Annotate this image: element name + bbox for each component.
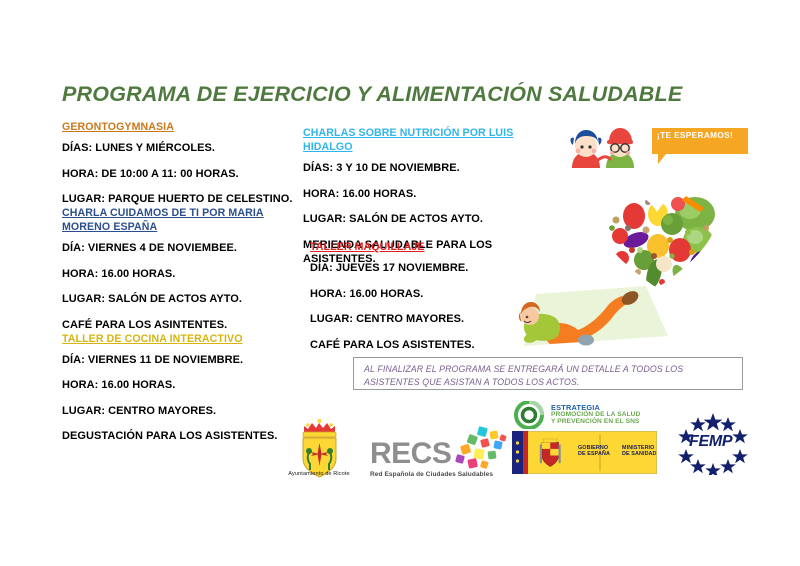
- detail-line: HORA: 16.00 HORAS.: [62, 378, 300, 392]
- stretching-person-icon: [518, 284, 698, 350]
- section-heading-charla-cuidamos: CHARLA CUIDAMOS DE TI POR MARIA MORENO E…: [62, 206, 300, 234]
- femp-wordmark: FEMP: [689, 433, 732, 451]
- estrategia-swirl-icon: [513, 401, 547, 429]
- detail-line: CAFÉ PARA LOS ASINTENTES.: [62, 318, 300, 332]
- left-column: GERONTOGYMNASIA DÍAS: LUNES Y MIÉRCOLES.…: [62, 120, 300, 443]
- ricote-logo-caption: Ayuntamiento de Ricote: [276, 471, 362, 477]
- detail-line: DÍAS: 3 Y 10 DE NOVIEMBRE.: [303, 161, 553, 175]
- detail-line: HORA: 16.00 HORAS.: [303, 187, 553, 201]
- detail-line: LUGAR: PARQUE HUERTO DE CELESTINO.: [62, 192, 300, 206]
- poster-page: PROGRAMA DE EJERCICIO Y ALIMENTACIÓN SAL…: [0, 0, 800, 566]
- closing-note-text: AL FINALIZAR EL PROGRAMA SE ENTREGARÁ UN…: [364, 363, 734, 388]
- speech-bubble-text: ¡TE ESPERAMOS!: [657, 131, 733, 140]
- section-gerontogymnasia: GERONTOGYMNASIA DÍAS: LUNES Y MIÉRCOLES.…: [62, 120, 300, 206]
- detail-line: LUGAR: CENTRO MAYORES.: [62, 404, 300, 418]
- section-heading-taller-cocina: TALLER DE COCINA INTERACTIVO: [62, 332, 300, 346]
- recs-dots-icon: [448, 425, 510, 473]
- estrategia-line3: Y PREVENCIÓN EN EL SNS: [551, 418, 639, 425]
- recs-logo-caption: Red Española de Ciudades Saludables: [370, 471, 493, 478]
- ministerio-de-sanidad-label: MINISTERIODE SANIDAD: [622, 445, 657, 458]
- section-heading-taller-maquillaje: TALLER MAQUILLAJE: [310, 240, 560, 254]
- detail-line: LUGAR: SALÓN DE ACTOS AYTO.: [303, 212, 553, 226]
- section-heading-gerontogymnasia: GERONTOGYMNASIA: [62, 120, 300, 134]
- estrategia-line2: PROMOCIÓN DE LA SALUD: [551, 411, 640, 418]
- detail-line: DÍA: JUEVES 17 NOVIEMBRE.: [310, 261, 560, 275]
- detail-line: HORA: DE 10:00 A 11: 00 HORAS.: [62, 167, 300, 181]
- detail-line: DEGUSTACIÓN PARA LOS ASISTENTES.: [62, 429, 300, 443]
- page-title: PROGRAMA DE EJERCICIO Y ALIMENTACIÓN SAL…: [62, 82, 682, 107]
- gobierno-de-espana-label: GOBIERNODE ESPAÑA: [578, 445, 610, 458]
- section-taller-cocina: TALLER DE COCINA INTERACTIVO DÍA: VIERNE…: [62, 332, 300, 444]
- vegetable-heart-icon: [592, 188, 722, 292]
- detail-line: DÍAS: LUNES Y MIÉRCOLES.: [62, 141, 300, 155]
- recs-logo-wordmark: RECS: [370, 437, 451, 471]
- section-heading-charlas-nutricion: CHARLAS SOBRE NUTRICIÓN POR LUIS HIDALGO: [303, 126, 553, 154]
- detail-line: HORA: 16.00 HORAS.: [62, 267, 300, 281]
- detail-line: DÍA: VIERNES 4 DE NOVIEMBEE.: [62, 241, 300, 255]
- closing-note-line2: QUE ASISTAN A TODOS LOS ACTOS.: [422, 377, 579, 387]
- section-charla-cuidamos: CHARLA CUIDAMOS DE TI POR MARIA MORENO E…: [62, 206, 300, 332]
- closing-note-box: AL FINALIZAR EL PROGRAMA SE ENTREGARÁ UN…: [353, 357, 743, 390]
- detail-line: LUGAR: SALÓN DE ACTOS AYTO.: [62, 292, 300, 306]
- detail-line: DÍA: VIERNES 11 DE NOVIEMBRE.: [62, 353, 300, 367]
